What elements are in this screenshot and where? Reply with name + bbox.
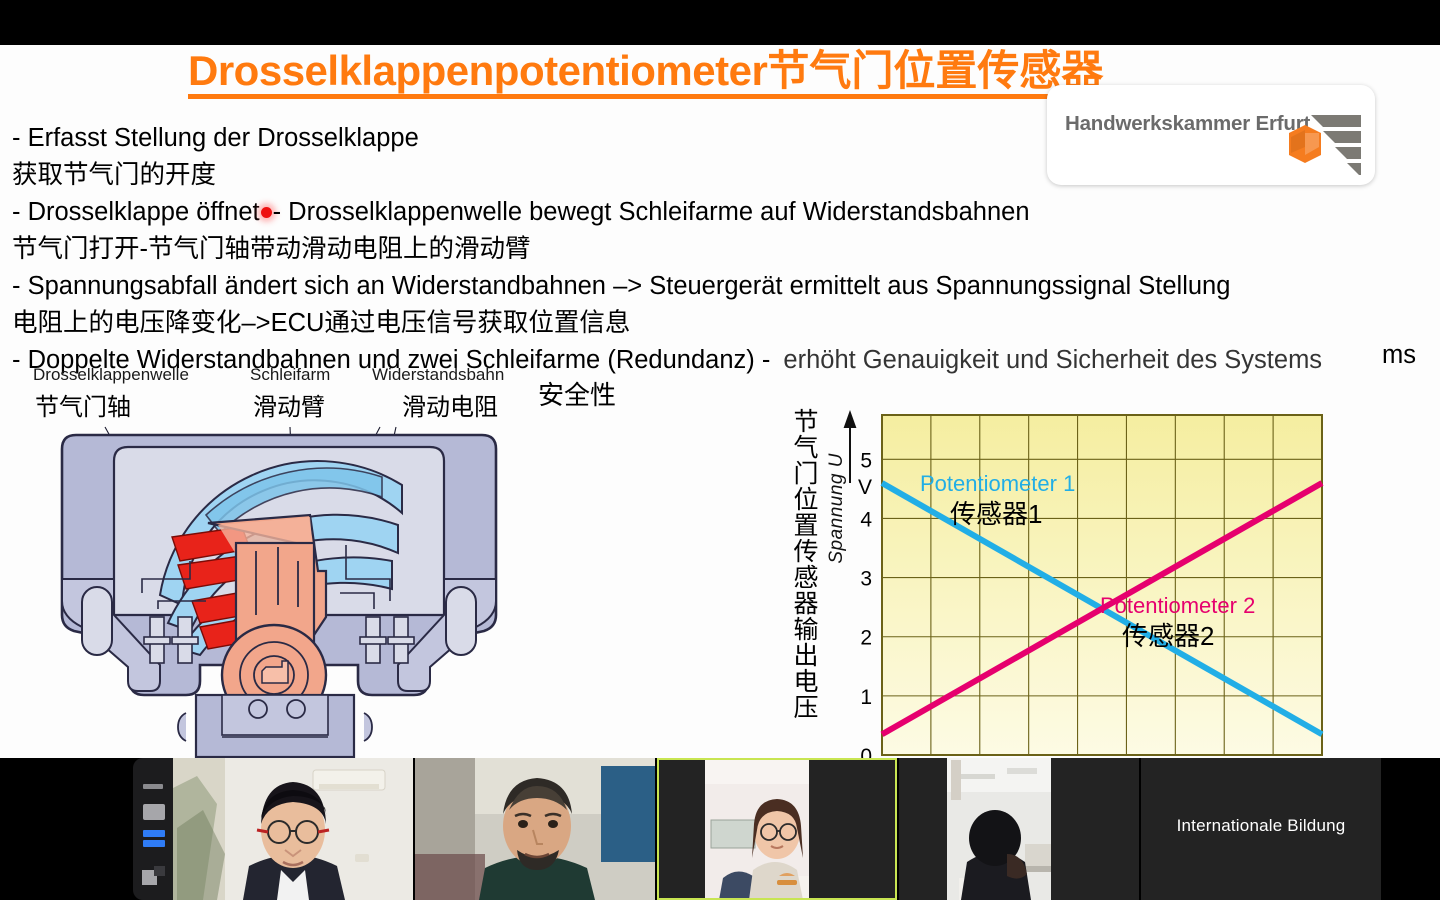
bullet-line-3-tail: - Drosselklappenwelle bewegt Schleifarme… — [273, 198, 1030, 226]
page-title: Drosselklappenpotentiometer节气门位置传感器 — [188, 48, 1103, 99]
bullet-line-7-chinese: 安全性 — [538, 375, 616, 412]
diagram-label-track-de: Widerstandsbahn — [372, 365, 504, 385]
participant-4-video — [899, 758, 1139, 900]
minimize-icon[interactable] — [143, 784, 163, 789]
slide-body: - Erfasst Stellung der Drosselklappe 获取节… — [12, 120, 1432, 379]
chart-plot: 012345 0°10°20°30°40°50°60°70°80°90° V α… — [782, 363, 1362, 803]
video-tile-strip: Internationale Bildung — [133, 758, 1293, 900]
bullet-line-6: 电阻上的电压降变化–>ECU通过电压信号获取位置信息 — [12, 305, 1432, 342]
participant-2-video — [415, 758, 655, 900]
diagram-label-track-cn: 滑动电阻 — [402, 387, 498, 422]
voltage-vs-angle-chart: 节气门位置传感器输出电压 Spannung U 012345 — [782, 363, 1362, 803]
svg-text:传感器2: 传感器2 — [1122, 621, 1214, 651]
presentation-slide: Drosselklappenpotentiometer节气门位置传感器 Hand… — [0, 45, 1440, 805]
video-tile-participant-5[interactable]: Internationale Bildung — [1141, 758, 1381, 900]
video-tile-participant-3[interactable] — [657, 758, 897, 900]
svg-text:传感器1: 传感器1 — [950, 499, 1042, 529]
screen: Drosselklappenpotentiometer节气门位置传感器 Hand… — [0, 0, 1440, 900]
svg-text:2: 2 — [860, 627, 872, 650]
chart-ylabel-chinese: 节气门位置传感器输出电压 — [786, 408, 822, 720]
diagram-label-wiper-cn: 滑动臂 — [253, 387, 325, 422]
gallery-view-icon[interactable] — [142, 866, 166, 886]
diagram-label-shaft-de: Drosselklappenwelle — [33, 365, 189, 385]
participant-1-video — [173, 758, 413, 900]
bullet-line-5: - Spannungsabfall ändert sich an Widerst… — [12, 268, 1432, 305]
svg-text:4: 4 — [860, 508, 872, 531]
mouse-cursor-dot — [261, 207, 272, 218]
throttle-position-sensor-diagram: Drosselklappenwelle Schleifarm Widerstan… — [10, 365, 610, 785]
speaker-view-icon[interactable] — [143, 830, 165, 837]
svg-text:Potentiometer 1: Potentiometer 1 — [920, 471, 1075, 496]
video-tile-participant-2[interactable] — [415, 758, 655, 900]
diagram-label-shaft-cn: 节气门轴 — [35, 387, 131, 422]
svg-text:1: 1 — [860, 686, 872, 709]
chart-ylabel-german: Spannung U — [826, 453, 848, 564]
svg-text:5: 5 — [860, 449, 872, 472]
bullet-line-3-head: - Drosselklappe öffnet — [12, 198, 260, 226]
diagram-label-wiper-de: Schleifarm — [250, 365, 330, 385]
video-tile-participant-4[interactable] — [899, 758, 1139, 900]
svg-text:Potentiometer 2: Potentiometer 2 — [1100, 593, 1255, 618]
bullet-line-4: 节气门打开-节气门轴带动滑动电阻上的滑动臂 — [12, 231, 1432, 268]
svg-text:3: 3 — [860, 568, 872, 591]
bullet-line-2: 获取节气门的开度 — [12, 157, 1432, 194]
sensor-cutaway-illustration — [10, 365, 610, 785]
svg-text:V: V — [858, 476, 872, 499]
participant-5-name: Internationale Bildung — [1141, 816, 1381, 836]
video-conference-bar: Internationale Bildung — [0, 758, 1440, 900]
bullet-line-1: - Erfasst Stellung der Drosselklappe — [12, 120, 1432, 157]
video-tile-participant-1[interactable] — [173, 758, 413, 900]
participant-3-video — [657, 758, 897, 900]
speaker-view-icon-bar2[interactable] — [143, 840, 165, 847]
title-german: Drosselklappenpotentiometer — [188, 47, 767, 94]
layout-controls[interactable] — [133, 758, 173, 900]
single-view-icon[interactable] — [143, 804, 165, 820]
bullet-line-7-tail-fragment: ms — [1382, 341, 1416, 370]
bullet-line-3: - Drosselklappe öffnet- Drosselklappenwe… — [12, 194, 1432, 231]
